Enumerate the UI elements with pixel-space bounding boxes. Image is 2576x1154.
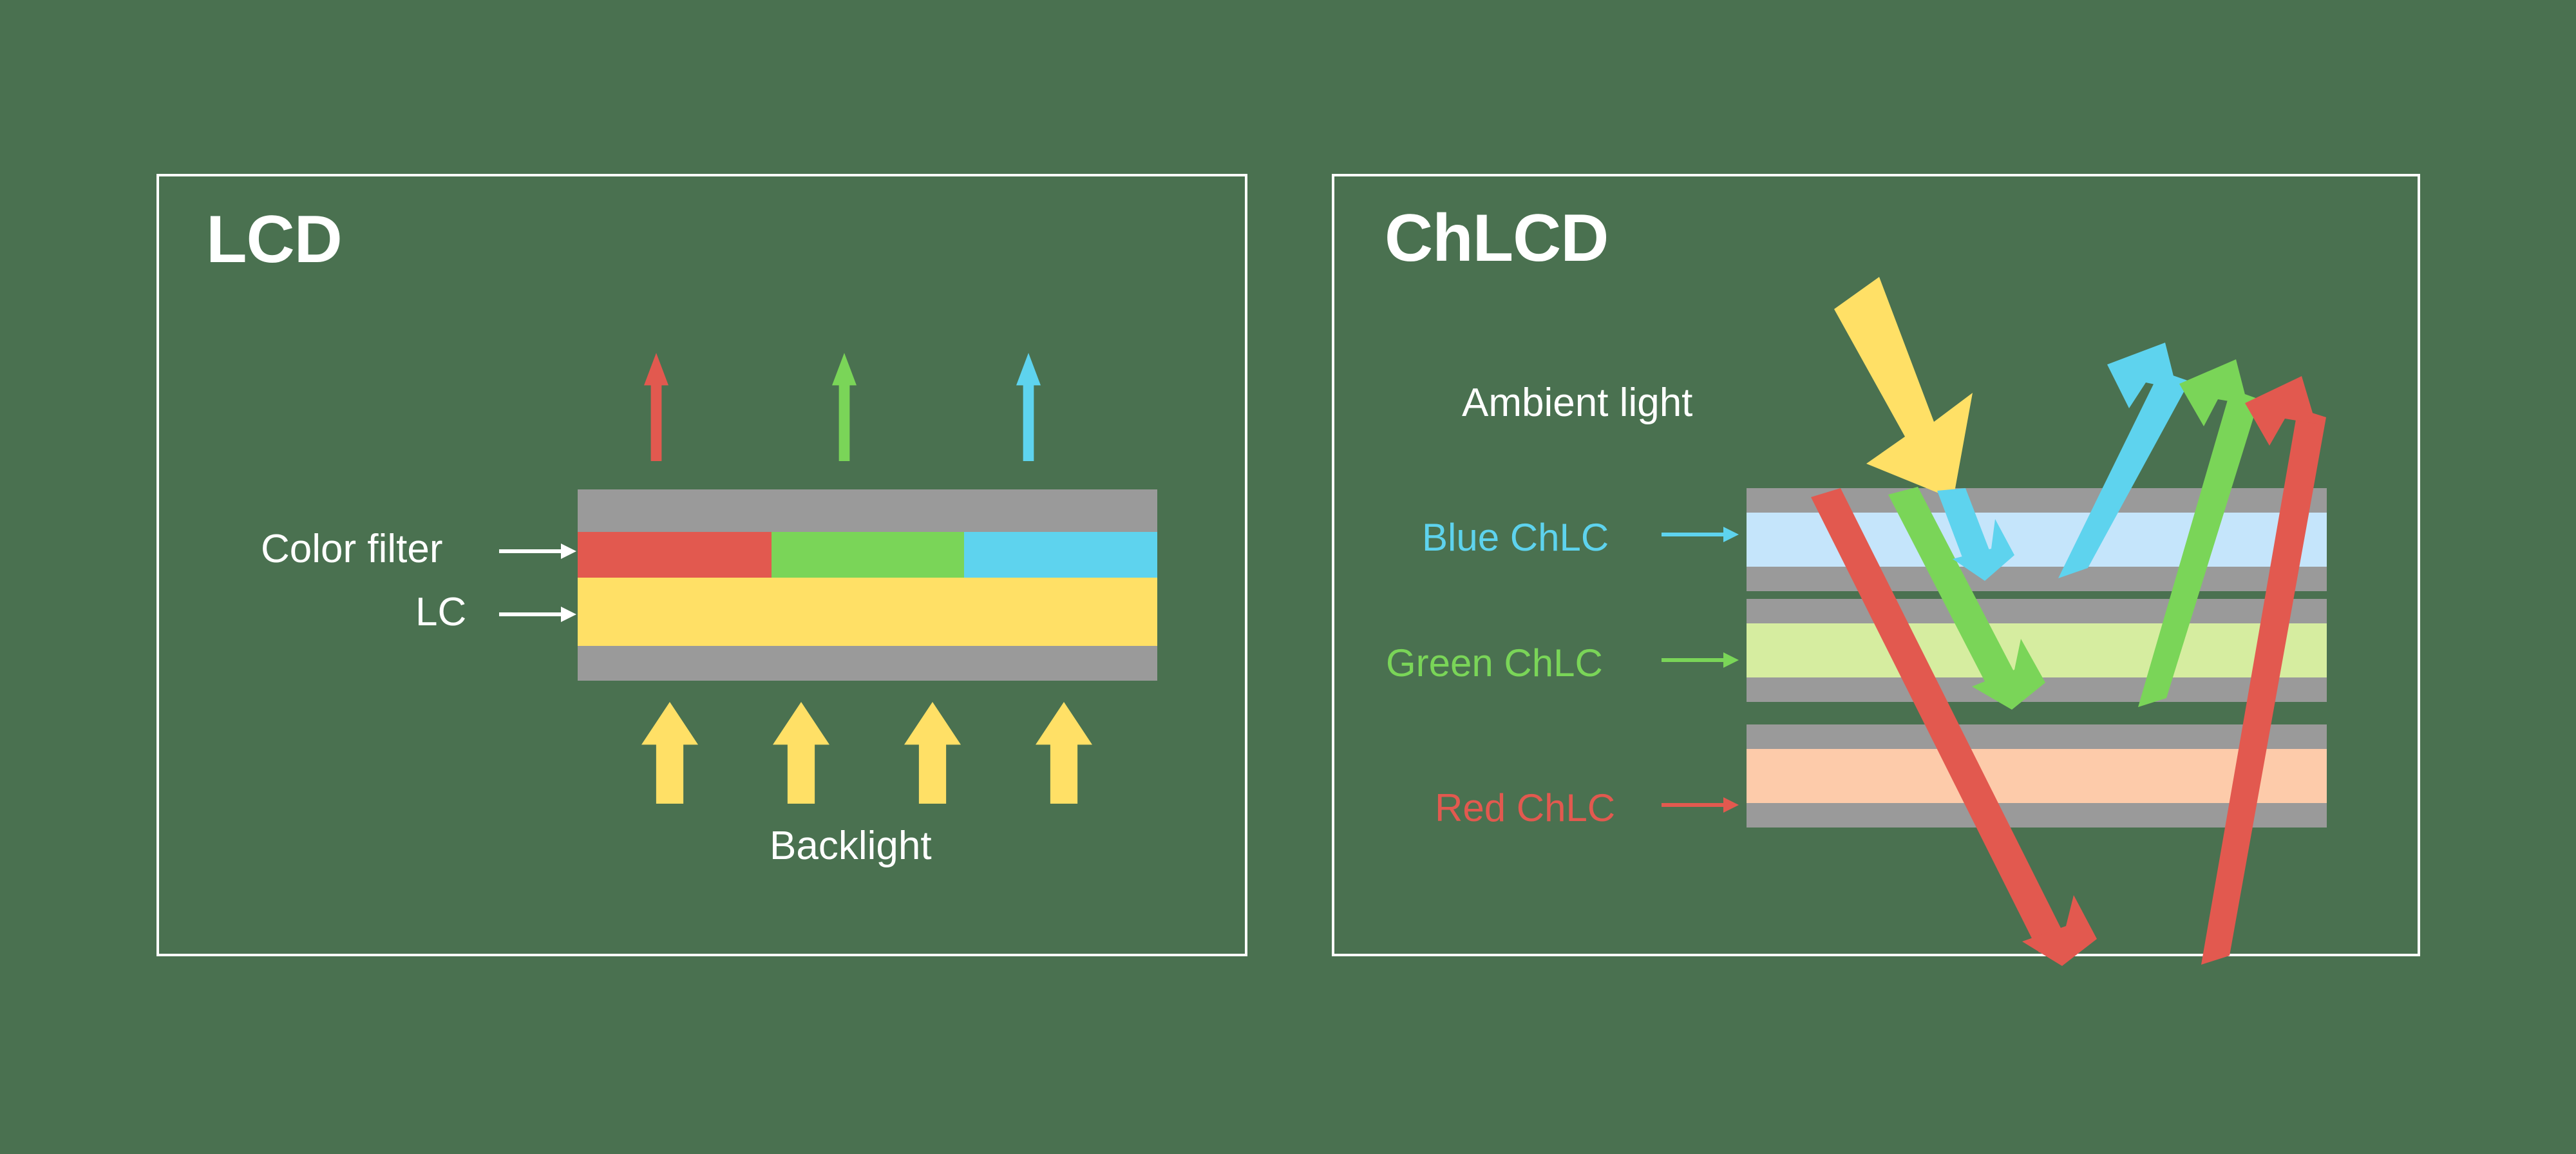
lcd-substrate-top	[578, 489, 1157, 532]
red-output-arrow	[644, 353, 668, 461]
diagram-canvas: LCD Color filter LC Backlight ChLCD	[0, 0, 2576, 1154]
red-chlc-label-text: Red ChLC	[1435, 789, 1615, 828]
blue-filter-segment	[964, 532, 1157, 578]
backlight-arrow	[1036, 702, 1092, 804]
lcd-liquid-crystal-layer	[578, 578, 1157, 646]
green-output-arrow	[832, 353, 857, 461]
ambient-light-label-text: Ambient light	[1462, 383, 1692, 423]
blue-chlc-label-text: Blue ChLC	[1422, 518, 1609, 557]
backlight-arrow	[904, 702, 961, 804]
lcd-panel-title: LCD	[206, 206, 342, 273]
green-filter-segment	[772, 532, 965, 578]
blue-chlc-label-arrow-icon	[1662, 523, 1739, 546]
backlight-label-text: Backlight	[770, 826, 932, 866]
lc-label-arrow-icon	[499, 603, 576, 626]
lc-label-text: LC	[415, 592, 466, 632]
blue-reflected-ray	[2058, 343, 2190, 578]
lcd-color-filter-layer	[578, 532, 1157, 578]
lcd-substrate-bottom	[578, 646, 1157, 681]
chlcd-panel-title: ChLCD	[1385, 205, 1608, 272]
green-chlc-label-text: Green ChLC	[1386, 644, 1603, 683]
lcd-layer-stack	[578, 489, 1157, 681]
backlight-arrow	[641, 702, 698, 804]
color-filter-label-arrow-icon	[499, 540, 576, 563]
chlcd-ray-group	[1739, 322, 2331, 850]
backlight-arrow	[773, 702, 829, 804]
green-chlc-label-arrow-icon	[1662, 648, 1739, 672]
blue-output-arrow	[1016, 353, 1041, 461]
red-chlc-label-arrow-icon	[1662, 793, 1739, 817]
color-filter-label-text: Color filter	[261, 529, 443, 569]
red-filter-segment	[578, 532, 772, 578]
